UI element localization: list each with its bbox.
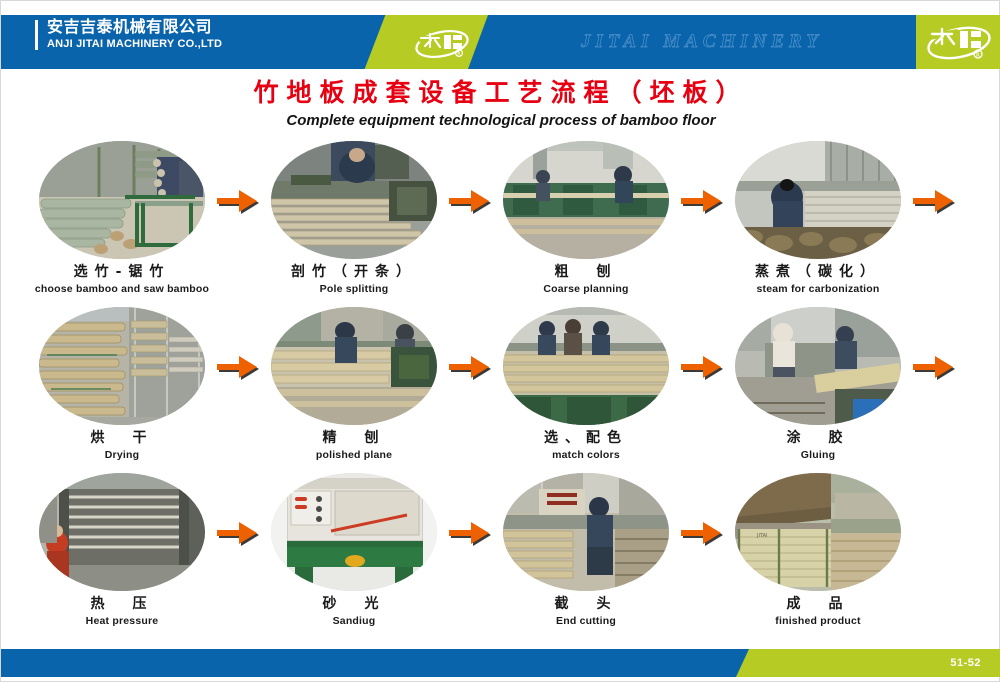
header-right-green-band: R (916, 15, 1000, 69)
company-name-en: ANJI JITAI MACHINERY CO.,LTD (47, 39, 222, 50)
flow-arrow-icon (910, 351, 958, 381)
flow-arrow-icon (678, 517, 726, 547)
step-caption: 成 品 finished product (697, 595, 939, 627)
step-caption: 蒸煮（碳化） steam for carbonization (697, 263, 939, 295)
process-step: 热 压 Heat pressure (1, 473, 251, 638)
step-photo-pole-splitting (271, 141, 437, 259)
step-label-cn: 截 头 (465, 595, 707, 613)
jitai-logo-icon-mid: R (411, 27, 473, 59)
page-number: 51-52 (950, 649, 981, 677)
svg-text:R: R (976, 53, 980, 59)
company-identity: 安吉吉泰机械有限公司 ANJI JITAI MACHINERY CO.,LTD (35, 20, 222, 50)
step-label-en: choose bamboo and saw bamboo (1, 283, 243, 295)
step-photo-polished-plane (271, 307, 437, 425)
flow-arrow-icon (678, 185, 726, 215)
process-step: 粗 刨 Coarse planning (465, 141, 715, 306)
flow-arrow-icon (214, 517, 262, 547)
step-caption: 精 刨 polished plane (233, 429, 475, 461)
step-caption: 涂 胶 Gluing (697, 429, 939, 461)
step-label-en: match colors (465, 449, 707, 461)
step-label-cn: 选竹-锯竹 (1, 263, 243, 281)
process-row-1: 选竹-锯竹 choose bamboo and saw bamboo (1, 141, 1000, 306)
step-label-cn: 剖竹（开条） (233, 263, 475, 281)
step-photo-coarse-planing (503, 141, 669, 259)
page-title-cn: 竹地板成套设备工艺流程（坯板） (1, 79, 1000, 108)
process-step: 选、配色 match colors (465, 307, 715, 472)
step-caption: 砂 光 Sandiug (233, 595, 475, 627)
flow-arrow-icon (446, 351, 494, 381)
step-photo-drying (39, 307, 205, 425)
step-photo-match-colors (503, 307, 669, 425)
step-label-cn: 热 压 (1, 595, 243, 613)
process-step: 砂 光 Sandiug (233, 473, 483, 638)
step-caption: 选竹-锯竹 choose bamboo and saw bamboo (1, 263, 243, 295)
step-caption: 截 头 End cutting (465, 595, 707, 627)
page-title-block: 竹地板成套设备工艺流程（坯板） Complete equipment techn… (1, 79, 1000, 129)
step-photo-gluing (735, 307, 901, 425)
page-title-en: Complete equipment technological process… (1, 112, 1000, 129)
step-caption: 粗 刨 Coarse planning (465, 263, 707, 295)
footer-blue-band (1, 649, 741, 677)
flow-arrow-icon (214, 351, 262, 381)
step-label-en: polished plane (233, 449, 475, 461)
process-row-2: 烘 干 Drying (1, 307, 1000, 472)
header-right-blue-band: JITAI MACHINERY (488, 15, 916, 69)
step-label-en: Sandiug (233, 615, 475, 627)
process-step: JITAI 成 品 finished product (697, 473, 947, 638)
step-label-cn: 选、配色 (465, 429, 707, 447)
step-photo-end-cutting (503, 473, 669, 591)
step-label-en: Heat pressure (1, 615, 243, 627)
svg-text:JITAI: JITAI (756, 533, 768, 539)
step-caption: 剖竹（开条） Pole splitting (233, 263, 475, 295)
process-flow-grid: 选竹-锯竹 choose bamboo and saw bamboo (1, 141, 1000, 636)
step-label-cn: 粗 刨 (465, 263, 707, 281)
brand-wordmark: JITAI MACHINERY (488, 15, 916, 69)
process-step: 剖竹（开条） Pole splitting (233, 141, 483, 306)
step-label-cn: 精 刨 (233, 429, 475, 447)
flow-arrow-icon (214, 185, 262, 215)
flow-arrow-icon (910, 185, 958, 215)
company-name-cn: 安吉吉泰机械有限公司 (47, 20, 222, 36)
process-row-3: 热 压 Heat pressure (1, 473, 1000, 638)
step-label-en: End cutting (465, 615, 707, 627)
step-caption: 烘 干 Drying (1, 429, 243, 461)
footer-green-band: 51-52 (749, 649, 1000, 677)
step-caption: 选、配色 match colors (465, 429, 707, 461)
step-label-cn: 成 品 (697, 595, 939, 613)
flow-arrow-icon (446, 185, 494, 215)
page-footer: 51-52 (1, 649, 1000, 677)
catalog-page: 安吉吉泰机械有限公司 ANJI JITAI MACHINERY CO.,LTD … (0, 0, 1000, 682)
jitai-logo-icon: R (916, 15, 1000, 69)
step-photo-steam-carbonization (735, 141, 901, 259)
step-photo-choose-bamboo (39, 141, 205, 259)
page-header: 安吉吉泰机械有限公司 ANJI JITAI MACHINERY CO.,LTD … (1, 15, 1000, 69)
step-label-en: steam for carbonization (697, 283, 939, 295)
process-step: 截 头 End cutting (465, 473, 715, 638)
step-label-cn: 蒸煮（碳化） (697, 263, 939, 281)
step-photo-hot-press (39, 473, 205, 591)
step-photo-finished-product: JITAI (735, 473, 901, 591)
process-step: 选竹-锯竹 choose bamboo and saw bamboo (1, 141, 251, 306)
step-label-cn: 砂 光 (233, 595, 475, 613)
step-label-en: finished product (697, 615, 939, 627)
step-label-en: Drying (1, 449, 243, 461)
process-step: 涂 胶 Gluing (697, 307, 947, 472)
process-step: 精 刨 polished plane (233, 307, 483, 472)
step-label-cn: 涂 胶 (697, 429, 939, 447)
step-label-en: Pole splitting (233, 283, 475, 295)
step-caption: 热 压 Heat pressure (1, 595, 243, 627)
step-photo-sanding (271, 473, 437, 591)
process-step: 蒸煮（碳化） steam for carbonization (697, 141, 947, 306)
flow-arrow-icon (678, 351, 726, 381)
step-label-en: Gluing (697, 449, 939, 461)
step-label-cn: 烘 干 (1, 429, 243, 447)
step-label-en: Coarse planning (465, 283, 707, 295)
flow-arrow-icon (446, 517, 494, 547)
process-step: 烘 干 Drying (1, 307, 251, 472)
